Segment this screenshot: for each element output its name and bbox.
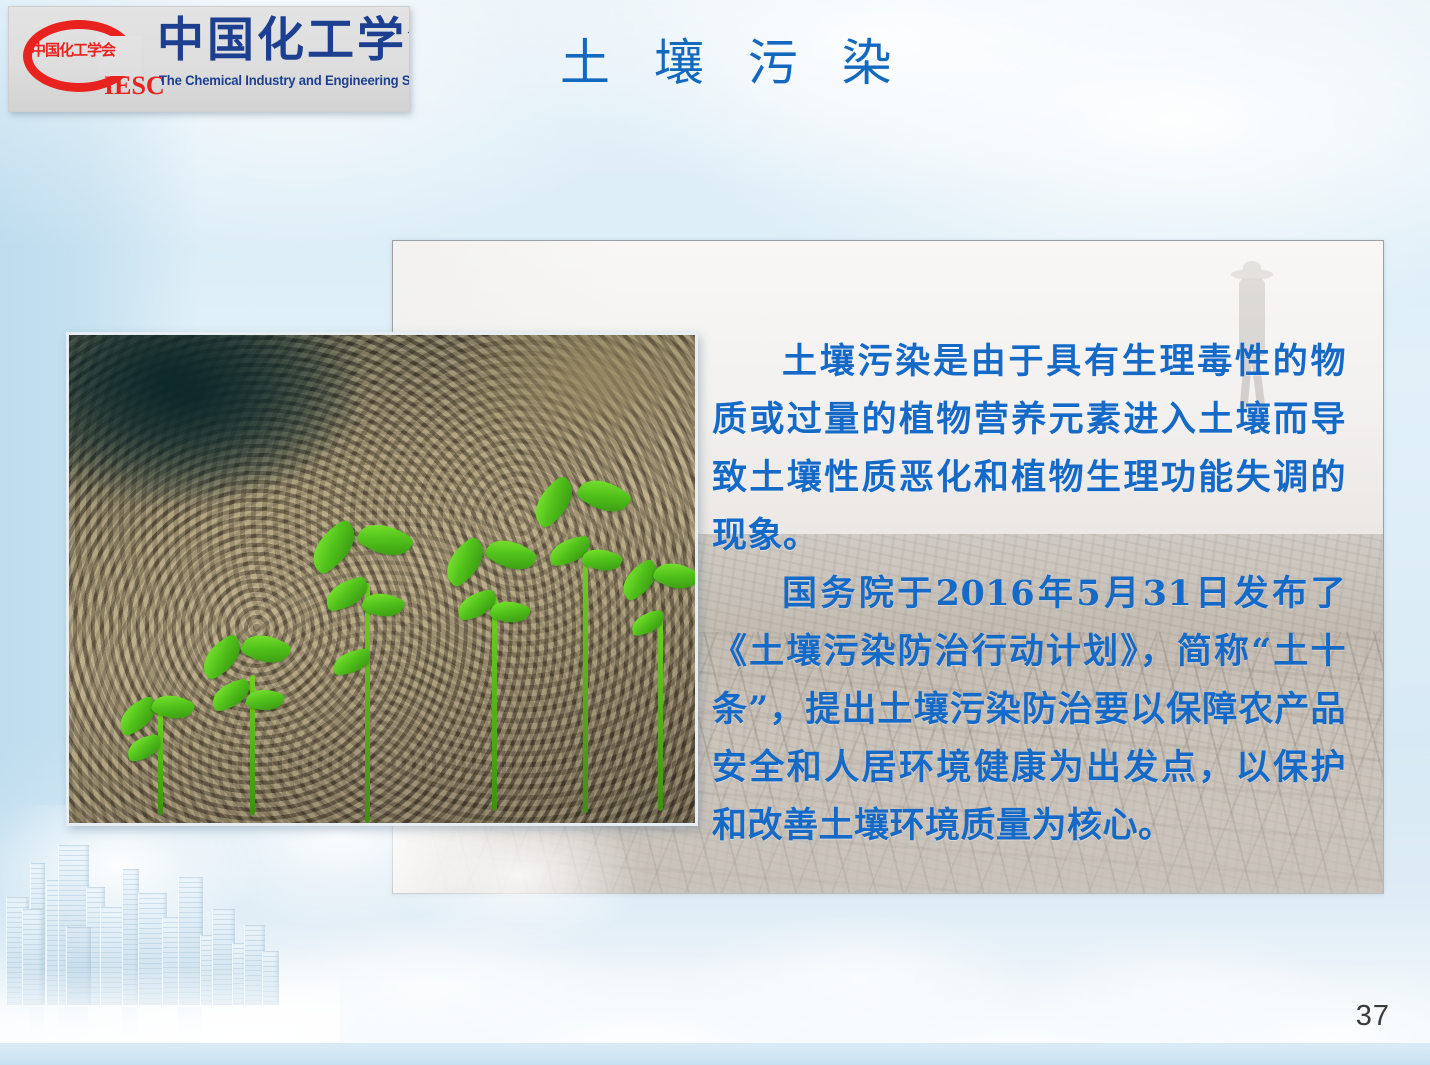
page-number: 37 <box>1356 1000 1390 1033</box>
sprout-icon <box>209 625 295 815</box>
photo-shadow-region <box>69 335 357 511</box>
sprout-icon <box>625 561 695 811</box>
logo-name-cn: 中国化工学会 <box>157 15 410 67</box>
logo-abbr: IESC <box>104 71 165 101</box>
paragraph-definition: 土壤污染是由于具有生理毒性的物质或过量的植物营养元素进入土壤而导致土壤性质恶化和… <box>712 333 1346 565</box>
seedling-photo <box>66 332 698 826</box>
logo-name-en: The Chemical Industry and Engineering So… <box>159 73 410 88</box>
sprout-icon <box>539 483 631 813</box>
bottom-strip <box>0 1043 1430 1065</box>
sprout-icon <box>449 541 539 811</box>
slide: 土壤污染是由于具有生理毒性的物质或过量的植物营养元素进入土壤而导致土壤性质恶化和… <box>0 0 1430 1065</box>
sprout-icon <box>123 665 197 815</box>
logo-mark-text: 中国化工学会 <box>31 42 123 58</box>
sprout-icon <box>319 523 415 823</box>
body-text: 土壤污染是由于具有生理毒性的物质或过量的植物营养元素进入土壤而导致土壤性质恶化和… <box>712 333 1346 855</box>
slide-title: 土 壤 污 染 <box>560 34 906 92</box>
cityscape-haze <box>0 967 340 1047</box>
society-logo: 中国化工学会 IESC 中国化工学会 The Chemical Industry… <box>8 6 410 112</box>
ciesc-logo-icon: 中国化工学会 IESC <box>19 14 151 100</box>
paragraph-policy: 国务院于2016年5月31日发布了《土壤污染防治行动计划》，简称“土十条”，提出… <box>712 565 1346 855</box>
